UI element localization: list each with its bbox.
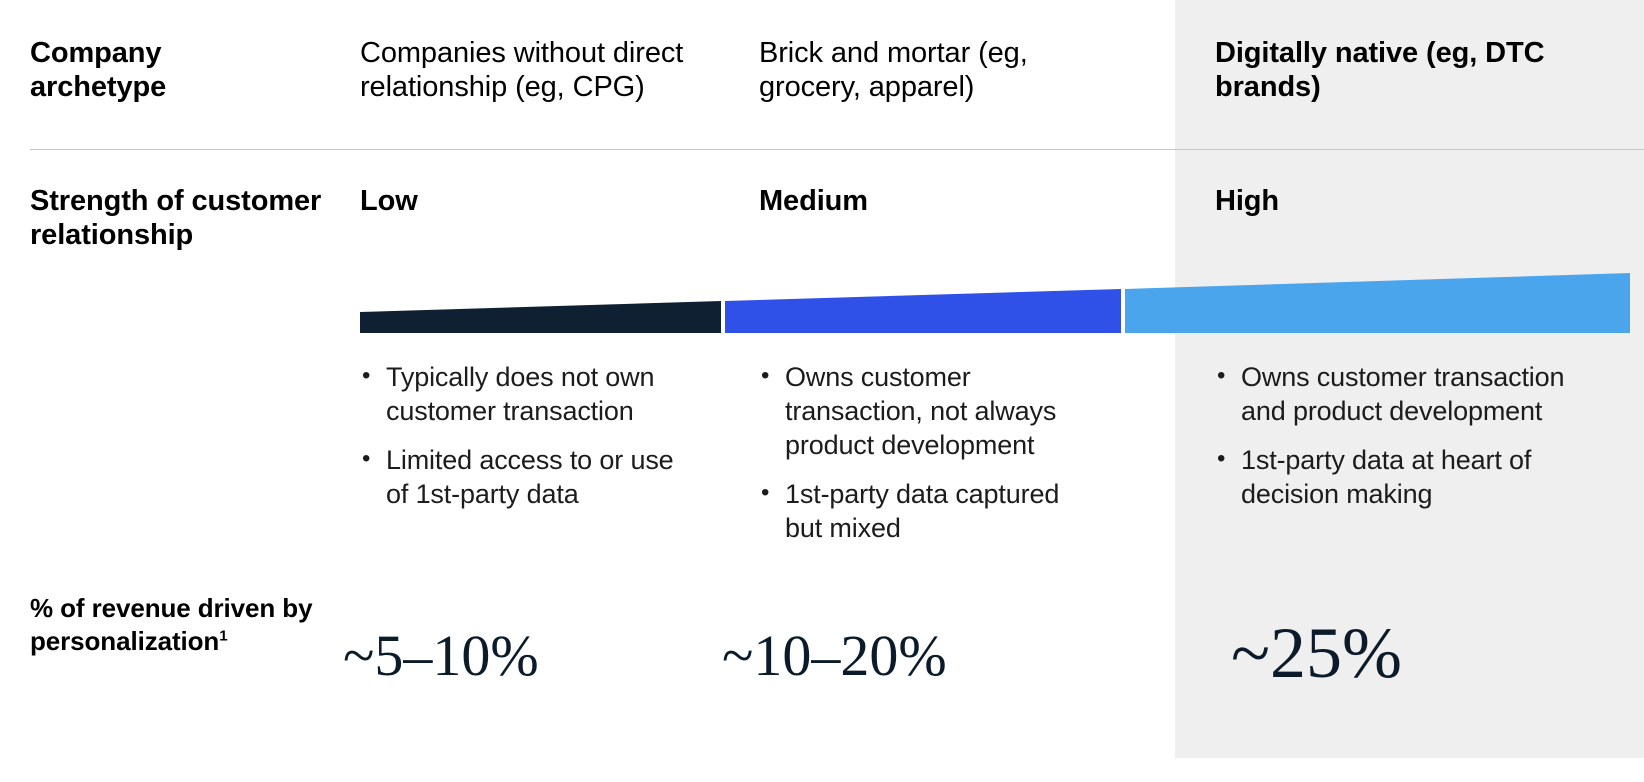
row-label-strength: Strength of customer relationship: [30, 184, 330, 252]
strength-level-col2-text: Medium: [759, 184, 1099, 218]
header-cell-col2-text: Brick and mortar (eg, grocery, apparel): [759, 36, 1099, 104]
bullets-col3: Owns customer transaction and product de…: [1215, 360, 1615, 526]
bullet-list-col3: Owns customer transaction and product de…: [1215, 360, 1615, 511]
header-cell-col1: Companies without direct relationship (e…: [360, 36, 700, 104]
revenue-value-col1: ~5–10%: [343, 622, 539, 689]
header-cell-col3-text: Digitally native (eg, DTC brands): [1215, 36, 1610, 104]
list-item: Owns customer transaction, not always pr…: [759, 360, 1099, 462]
row-label-archetype-line1: Company: [30, 36, 330, 70]
row-label-archetype: Company archetype: [30, 36, 330, 104]
exhibit-canvas: Company archetype Companies without dire…: [0, 0, 1644, 782]
row-label-revenue-text: % of revenue driven by personalization1: [30, 592, 330, 658]
bullets-col2: Owns customer transaction, not always pr…: [759, 360, 1099, 560]
row-label-archetype-line2: archetype: [30, 70, 330, 104]
wedge-segment-high: [1125, 273, 1630, 333]
strength-level-col1-text: Low: [360, 184, 700, 218]
footnote-marker: 1: [219, 627, 227, 644]
list-item: Owns customer transaction and product de…: [1215, 360, 1615, 428]
header-cell-col2: Brick and mortar (eg, grocery, apparel): [759, 36, 1099, 104]
row-label-revenue-label: % of revenue driven by personalization: [30, 593, 312, 656]
list-item: Limited access to or use of 1st-party da…: [360, 443, 700, 511]
list-item: 1st-party data at heart of decision maki…: [1215, 443, 1615, 511]
strength-level-col1: Low: [360, 184, 700, 218]
row-label-strength-text: Strength of customer relationship: [30, 184, 330, 252]
list-item: 1st-party data captured but mixed: [759, 477, 1099, 545]
revenue-value-col2: ~10–20%: [722, 622, 947, 689]
revenue-value-col3: ~25%: [1231, 612, 1402, 695]
strength-level-col3: High: [1215, 184, 1610, 218]
bullet-list-col1: Typically does not own customer transact…: [360, 360, 700, 511]
wedge-segment-low: [360, 301, 721, 333]
row-label-revenue: % of revenue driven by personalization1: [30, 592, 330, 658]
list-item: Typically does not own customer transact…: [360, 360, 700, 428]
strength-level-col3-text: High: [1215, 184, 1610, 218]
wedge-segment-medium: [725, 289, 1121, 333]
bullets-col1: Typically does not own customer transact…: [360, 360, 700, 526]
header-divider: [30, 149, 1644, 150]
bullet-list-col2: Owns customer transaction, not always pr…: [759, 360, 1099, 545]
header-cell-col1-text: Companies without direct relationship (e…: [360, 36, 700, 104]
strength-level-col2: Medium: [759, 184, 1099, 218]
relationship-strength-wedge: [0, 262, 1644, 334]
wedge-svg: [0, 262, 1644, 334]
header-cell-col3: Digitally native (eg, DTC brands): [1215, 36, 1610, 104]
